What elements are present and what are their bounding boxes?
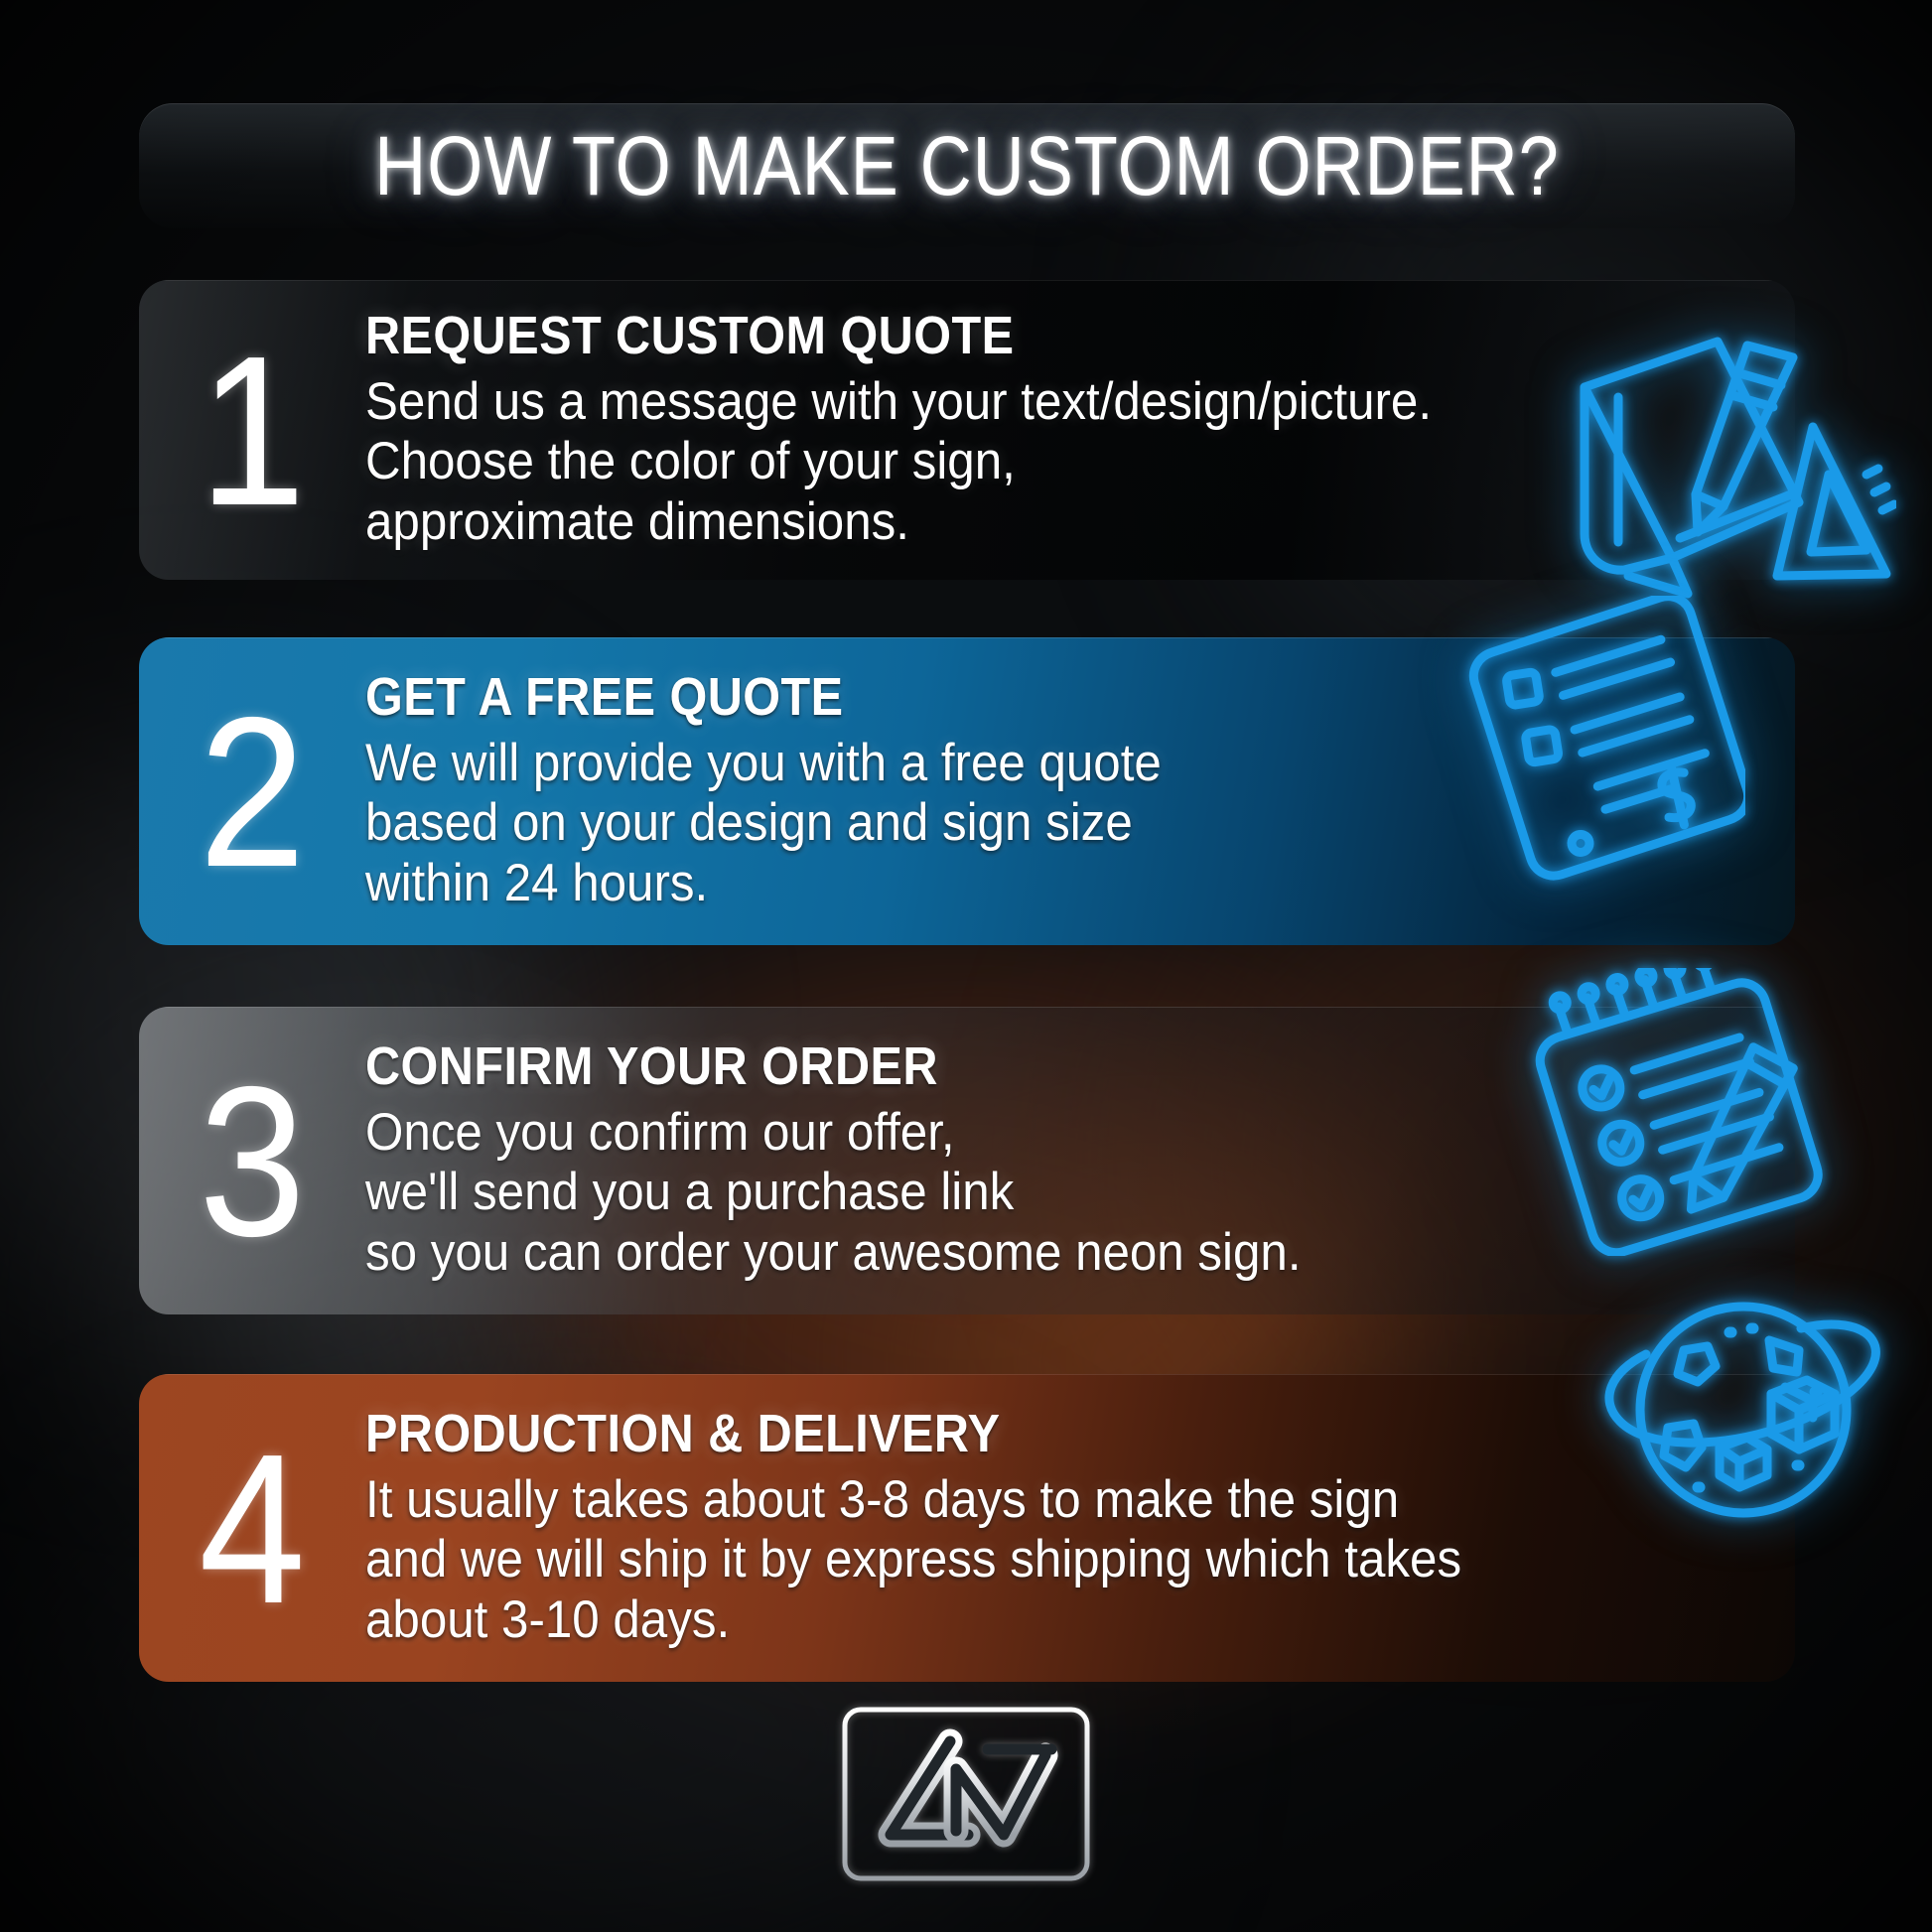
step-line: so you can order your awesome neon sign. (365, 1223, 1765, 1283)
step-card-1: 1 REQUEST CUSTOM QUOTE Send us a message… (139, 280, 1795, 580)
step-number-4: 4 (163, 1422, 342, 1635)
step-heading-4: PRODUCTION & DELIVERY (365, 1406, 1765, 1462)
step-line: Once you confirm our offer, (365, 1103, 1765, 1163)
step-card-2: 2 GET A FREE QUOTE We will provide you w… (139, 637, 1795, 945)
step-line: based on your design and sign size (365, 793, 1765, 853)
step-heading-2: GET A FREE QUOTE (365, 669, 1765, 726)
step-line: Send us a message with your text/design/… (365, 372, 1765, 432)
step-line: we'll send you a purchase link (365, 1163, 1765, 1222)
title-bar: HOW TO MAKE CUSTOM ORDER? (139, 103, 1795, 228)
step-line: We will provide you with a free quote (365, 734, 1765, 793)
infographic-page: HOW TO MAKE CUSTOM ORDER? 1 REQUEST CUST… (0, 0, 1932, 1932)
step-card-4: 4 PRODUCTION & DELIVERY It usually takes… (139, 1374, 1795, 1682)
step-line: about 3-10 days. (365, 1590, 1765, 1650)
step-body-2: GET A FREE QUOTE We will provide you wit… (351, 669, 1795, 913)
step-number-3: 3 (163, 1054, 342, 1268)
ln-monogram-logo (839, 1704, 1093, 1884)
step-number-2: 2 (163, 685, 342, 898)
page-title: HOW TO MAKE CUSTOM ORDER? (139, 124, 1795, 207)
step-body-1: REQUEST CUSTOM QUOTE Send us a message w… (351, 308, 1795, 552)
step-line: approximate dimensions. (365, 492, 1765, 552)
step-number-1: 1 (163, 324, 342, 537)
step-body-3: CONFIRM YOUR ORDER Once you confirm our … (351, 1038, 1795, 1283)
step-line: It usually takes about 3-8 days to make … (365, 1470, 1765, 1530)
step-card-3: 3 CONFIRM YOUR ORDER Once you confirm ou… (139, 1007, 1795, 1314)
page-title-text: HOW TO MAKE CUSTOM ORDER? (374, 124, 1560, 207)
step-heading-1: REQUEST CUSTOM QUOTE (365, 308, 1765, 364)
step-line: Choose the color of your sign, (365, 432, 1765, 491)
step-line: within 24 hours. (365, 854, 1765, 913)
step-heading-3: CONFIRM YOUR ORDER (365, 1038, 1765, 1095)
step-line: and we will ship it by express shipping … (365, 1530, 1765, 1589)
step-body-4: PRODUCTION & DELIVERY It usually takes a… (351, 1406, 1795, 1650)
